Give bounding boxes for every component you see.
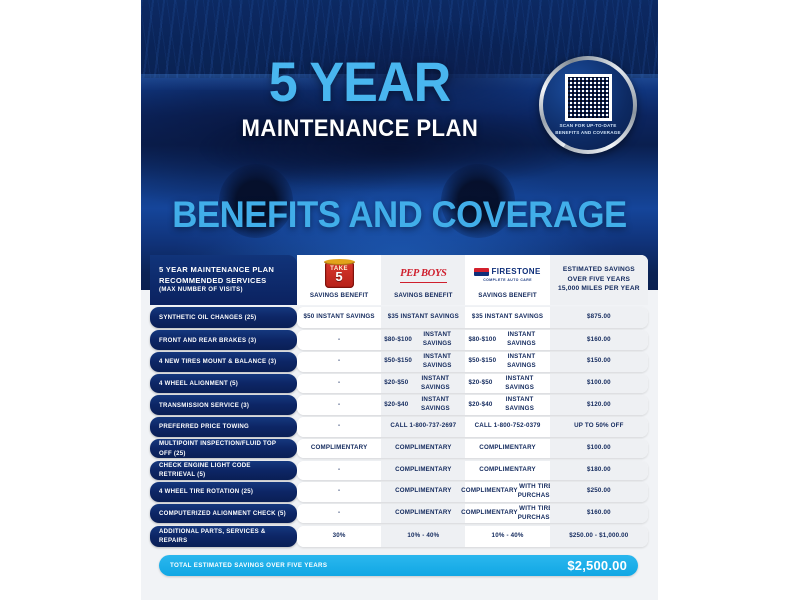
table-row: ADDITIONAL PARTS, SERVICES & REPAIRS30%1… xyxy=(150,526,648,547)
cell-estimated: $250.00 - $1,000.00 xyxy=(550,526,648,547)
cell-estimated: $100.00 xyxy=(550,374,648,394)
benefits-table: 5 YEAR MAINTENANCE PLAN RECOMMENDED SERV… xyxy=(141,255,658,576)
firestone-mark-icon xyxy=(474,268,489,276)
table-row: SYNTHETIC OIL CHANGES (25)$50 INSTANT SA… xyxy=(150,307,648,328)
row-cells: -$20-$40INSTANT SAVINGS$20-$40INSTANT SA… xyxy=(297,395,648,415)
qr-code-icon[interactable] xyxy=(565,74,612,121)
row-service-label: ADDITIONAL PARTS, SERVICES & REPAIRS xyxy=(150,526,297,547)
row-cells: -COMPLIMENTARYCOMPLIMENTARYWITH TIRE PUR… xyxy=(297,482,648,502)
table-row: TRANSMISSION SERVICE (3)-$20-$40INSTANT … xyxy=(150,395,648,415)
cell-pepboys: $20-$50INSTANT SAVINGS xyxy=(381,374,465,394)
cell-pepboys: COMPLIMENTARY xyxy=(381,461,465,481)
qr-caption-line-2: BENEFITS AND COVERAGE xyxy=(555,130,621,137)
cell-take5: - xyxy=(297,504,381,524)
estimated-savings-line-3: 15,000 MILES PER YEAR xyxy=(558,284,640,294)
row-cells: -$20-$50INSTANT SAVINGS$20-$50INSTANT SA… xyxy=(297,374,648,394)
table-header-row: 5 YEAR MAINTENANCE PLAN RECOMMENDED SERV… xyxy=(150,255,648,305)
column-header-firestone-label: SAVINGS BENEFIT xyxy=(478,292,537,301)
header-title-line-2: RECOMMENDED SERVICES xyxy=(159,276,274,287)
table-row: 4 WHEEL ALIGNMENT (5)-$20-$50INSTANT SAV… xyxy=(150,374,648,394)
column-header-estimated-savings: ESTIMATED SAVINGS OVER FIVE YEARS 15,000… xyxy=(550,255,648,305)
table-row: COMPUTERIZED ALIGNMENT CHECK (5)-COMPLIM… xyxy=(150,504,648,524)
cell-take5: - xyxy=(297,461,381,481)
cell-firestone: 10% - 40% xyxy=(465,526,549,547)
table-row: 4 NEW TIRES MOUNT & BALANCE (3)-$50-$150… xyxy=(150,352,648,372)
cell-pepboys: $35 INSTANT SAVINGS xyxy=(381,307,465,328)
cell-estimated: $180.00 xyxy=(550,461,648,481)
row-cells: $50 INSTANT SAVINGS$35 INSTANT SAVINGS$3… xyxy=(297,307,648,328)
take-5-logo-take-text: TAKE xyxy=(325,265,354,274)
total-savings-label: TOTAL ESTIMATED SAVINGS OVER FIVE YEARS xyxy=(170,562,327,569)
hero-banner: 5 YEAR MAINTENANCE PLAN BENEFITS AND COV… xyxy=(141,0,658,290)
cell-firestone: COMPLIMENTARY xyxy=(465,461,549,481)
row-cells: -$50-$150INSTANT SAVINGS$50-$150INSTANT … xyxy=(297,352,648,372)
row-cells: -$80-$100INSTANT SAVINGS$80-$100INSTANT … xyxy=(297,330,648,350)
cell-estimated: $120.00 xyxy=(550,395,648,415)
row-service-label: 4 WHEEL ALIGNMENT (5) xyxy=(150,374,297,394)
firestone-logo-top: Firestone xyxy=(474,266,540,278)
cell-firestone: $20-$50INSTANT SAVINGS xyxy=(465,374,549,394)
cell-pepboys: COMPLIMENTARY xyxy=(381,482,465,502)
header-title-line-3: (MAX NUMBER OF VISITS) xyxy=(159,286,274,295)
take-5-logo: TAKE 5 xyxy=(325,262,354,288)
row-cells: -COMPLIMENTARYCOMPLIMENTARYWITH TIRE PUR… xyxy=(297,504,648,524)
cell-pepboys: $20-$40INSTANT SAVINGS xyxy=(381,395,465,415)
cell-pepboys: COMPLIMENTARY xyxy=(381,439,465,459)
cell-pepboys: 10% - 40% xyxy=(381,526,465,547)
cell-estimated: $250.00 xyxy=(550,482,648,502)
cell-take5: - xyxy=(297,352,381,372)
row-cells: 30%10% - 40%10% - 40%$250.00 - $1,000.00 xyxy=(297,526,648,547)
cell-pepboys: COMPLIMENTARY xyxy=(381,504,465,524)
qr-caption: SCAN FOR UP-TO-DATE BENEFITS AND COVERAG… xyxy=(555,123,621,136)
cell-take5: - xyxy=(297,417,381,437)
flyer-page: 5 YEAR MAINTENANCE PLAN BENEFITS AND COV… xyxy=(0,0,800,600)
estimated-savings-line-1: ESTIMATED SAVINGS xyxy=(563,265,635,275)
row-service-label: MULTIPOINT INSPECTION/FLUID TOP OFF (25) xyxy=(150,439,297,459)
row-service-label: CHECK ENGINE LIGHT CODE RETRIEVAL (5) xyxy=(150,461,297,481)
header-title-line-1: 5 YEAR MAINTENANCE PLAN xyxy=(159,265,274,276)
cell-take5: - xyxy=(297,330,381,350)
take-5-logo-slot: TAKE 5 xyxy=(300,257,378,292)
cell-firestone: COMPLIMENTARYWITH TIRE PURCHASE xyxy=(465,504,549,524)
table-body: SYNTHETIC OIL CHANGES (25)$50 INSTANT SA… xyxy=(150,307,648,546)
cell-estimated: $100.00 xyxy=(550,439,648,459)
column-header-pep-boys-label: SAVINGS BENEFIT xyxy=(394,292,453,301)
row-service-label: 4 NEW TIRES MOUNT & BALANCE (3) xyxy=(150,352,297,372)
firestone-logo-name: Firestone xyxy=(491,266,540,278)
firestone-logo-slot: Firestone COMPLETE AUTO CARE xyxy=(468,257,546,292)
cell-firestone: $50-$150INSTANT SAVINGS xyxy=(465,352,549,372)
qr-code-badge[interactable]: SCAN FOR UP-TO-DATE BENEFITS AND COVERAG… xyxy=(539,56,637,154)
cell-estimated: $875.00 xyxy=(550,307,648,328)
total-savings-value: $2,500.00 xyxy=(567,558,627,573)
cell-take5: COMPLIMENTARY xyxy=(297,439,381,459)
row-service-label: SYNTHETIC OIL CHANGES (25) xyxy=(150,307,297,328)
column-header-pep-boys: Pep Boys SAVINGS BENEFIT xyxy=(381,255,465,305)
cell-estimated: $160.00 xyxy=(550,330,648,350)
table-row: FRONT AND REAR BRAKES (3)-$80-$100INSTAN… xyxy=(150,330,648,350)
cell-firestone: COMPLIMENTARY xyxy=(465,439,549,459)
row-service-label: PREFERRED PRICE TOWING xyxy=(150,417,297,437)
cell-estimated: $150.00 xyxy=(550,352,648,372)
cell-firestone: $35 INSTANT SAVINGS xyxy=(465,307,549,328)
row-service-label: TRANSMISSION SERVICE (3) xyxy=(150,395,297,415)
row-cells: -COMPLIMENTARYCOMPLIMENTARY$180.00 xyxy=(297,461,648,481)
cell-pepboys: $80-$100INSTANT SAVINGS xyxy=(381,330,465,350)
row-service-label: COMPUTERIZED ALIGNMENT CHECK (5) xyxy=(150,504,297,524)
estimated-savings-line-2: OVER FIVE YEARS xyxy=(568,275,631,285)
cell-take5: - xyxy=(297,374,381,394)
cell-estimated: UP TO 50% OFF xyxy=(550,417,648,437)
total-savings-bar: TOTAL ESTIMATED SAVINGS OVER FIVE YEARS … xyxy=(159,555,638,576)
row-cells: COMPLIMENTARYCOMPLIMENTARYCOMPLIMENTARY$… xyxy=(297,439,648,459)
cell-take5: - xyxy=(297,482,381,502)
cell-estimated: $160.00 xyxy=(550,504,648,524)
cell-take5: 30% xyxy=(297,526,381,547)
table-header-service-column: 5 YEAR MAINTENANCE PLAN RECOMMENDED SERV… xyxy=(150,255,297,305)
qr-caption-line-1: SCAN FOR UP-TO-DATE xyxy=(555,123,621,130)
cell-firestone: $20-$40INSTANT SAVINGS xyxy=(465,395,549,415)
cell-pepboys: CALL 1-800-737-2697 xyxy=(381,417,465,437)
column-header-take-5-label: SAVINGS BENEFIT xyxy=(310,292,369,301)
cell-pepboys: $50-$150INSTANT SAVINGS xyxy=(381,352,465,372)
pep-boys-logo-slot: Pep Boys xyxy=(384,257,462,292)
table-header-cells: TAKE 5 SAVINGS BENEFIT Pep Boys SAVINGS … xyxy=(297,255,648,305)
row-service-label: 4 WHEEL TIRE ROTATION (25) xyxy=(150,482,297,502)
qr-badge-inner: SCAN FOR UP-TO-DATE BENEFITS AND COVERAG… xyxy=(543,60,633,150)
cell-take5: - xyxy=(297,395,381,415)
firestone-logo: Firestone COMPLETE AUTO CARE xyxy=(474,266,540,283)
table-row: PREFERRED PRICE TOWING-CALL 1-800-737-26… xyxy=(150,417,648,437)
flyer-sheet: 5 YEAR MAINTENANCE PLAN BENEFITS AND COV… xyxy=(141,0,658,600)
hero-section-title-benefits-coverage: BENEFITS AND COVERAGE xyxy=(157,196,643,233)
table-row: 4 WHEEL TIRE ROTATION (25)-COMPLIMENTARY… xyxy=(150,482,648,502)
cell-firestone: CALL 1-800-752-0379 xyxy=(465,417,549,437)
cell-firestone: $80-$100INSTANT SAVINGS xyxy=(465,330,549,350)
row-service-label: FRONT AND REAR BRAKES (3) xyxy=(150,330,297,350)
column-header-firestone: Firestone COMPLETE AUTO CARE SAVINGS BEN… xyxy=(465,255,549,305)
column-header-take-5: TAKE 5 SAVINGS BENEFIT xyxy=(297,255,381,305)
firestone-logo-tagline: COMPLETE AUTO CARE xyxy=(483,278,532,283)
table-row: CHECK ENGINE LIGHT CODE RETRIEVAL (5)-CO… xyxy=(150,461,648,481)
table-row: MULTIPOINT INSPECTION/FLUID TOP OFF (25)… xyxy=(150,439,648,459)
cell-firestone: COMPLIMENTARYWITH TIRE PURCHASE xyxy=(465,482,549,502)
pep-boys-logo: Pep Boys xyxy=(400,266,447,283)
cell-take5: $50 INSTANT SAVINGS xyxy=(297,307,381,328)
row-cells: -CALL 1-800-737-2697CALL 1-800-752-0379U… xyxy=(297,417,648,437)
